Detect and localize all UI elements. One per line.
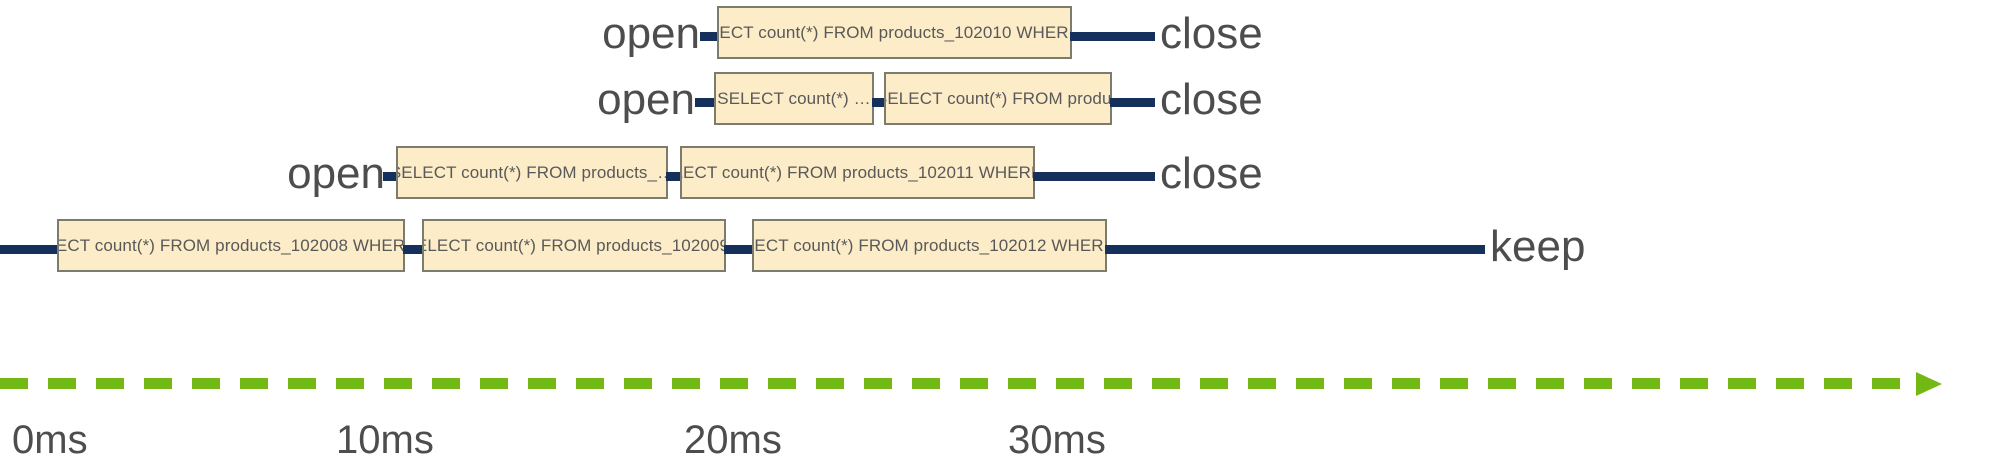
session-open-label: open bbox=[535, 78, 695, 122]
time-axis-arrow bbox=[0, 368, 2000, 408]
dashed-time-line bbox=[0, 378, 1920, 389]
query-text: SELECT count(*) FROM products_102009 .. bbox=[422, 236, 726, 256]
session-open-label: open bbox=[540, 12, 700, 56]
session-timeline-diagram: open SELECT count(*) FROM products_10201… bbox=[0, 0, 2000, 476]
query-box[interactable]: SELECT count(*) FROM products_102011 WHE… bbox=[680, 146, 1035, 199]
query-box[interactable]: SELECT count(*) FROM produc bbox=[884, 72, 1112, 125]
time-tick-label: 20ms bbox=[684, 420, 782, 460]
query-box[interactable]: SELECT count(*) FROM products_102009 .. bbox=[422, 219, 726, 272]
query-text: SELECT count(*) FROM products_102008 WHE… bbox=[57, 236, 405, 256]
time-tick-label: 0ms bbox=[12, 420, 88, 460]
time-tick-label: 30ms bbox=[1008, 420, 1106, 460]
query-text: SELECT count(*) … bbox=[717, 89, 871, 109]
connection-line-segment bbox=[0, 245, 62, 254]
session-close-label: close bbox=[1160, 12, 1340, 56]
time-tick-label: 10ms bbox=[336, 420, 434, 460]
query-box[interactable]: SELECT count(*) … bbox=[714, 72, 874, 125]
query-text: SELECT count(*) FROM products_… bbox=[396, 163, 668, 183]
connection-line-segment bbox=[1105, 245, 1485, 254]
session-open-label: open bbox=[225, 152, 385, 196]
connection-line-segment bbox=[1110, 98, 1155, 107]
query-text: SELECT count(*) FROM products_102010 WHE… bbox=[717, 23, 1072, 43]
connection-line-segment bbox=[724, 245, 754, 254]
query-box[interactable]: SELECT count(*) FROM products_102012 WHE… bbox=[752, 219, 1107, 272]
query-box[interactable]: SELECT count(*) FROM products_102010 WHE… bbox=[717, 6, 1072, 59]
query-box[interactable]: SELECT count(*) FROM products_102008 WHE… bbox=[57, 219, 405, 272]
right-arrow-icon bbox=[1916, 372, 1942, 396]
session-close-label: close bbox=[1160, 78, 1340, 122]
connection-line-segment bbox=[1070, 32, 1155, 41]
query-text: SELECT count(*) FROM products_102012 WHE… bbox=[752, 236, 1107, 256]
session-close-label: close bbox=[1160, 152, 1340, 196]
query-text: SELECT count(*) FROM products_102011 WHE… bbox=[680, 163, 1035, 183]
session-keep-label: keep bbox=[1490, 225, 1690, 269]
query-text: SELECT count(*) FROM produc bbox=[884, 89, 1112, 109]
query-box[interactable]: SELECT count(*) FROM products_… bbox=[396, 146, 668, 199]
connection-line-segment bbox=[1033, 172, 1155, 181]
